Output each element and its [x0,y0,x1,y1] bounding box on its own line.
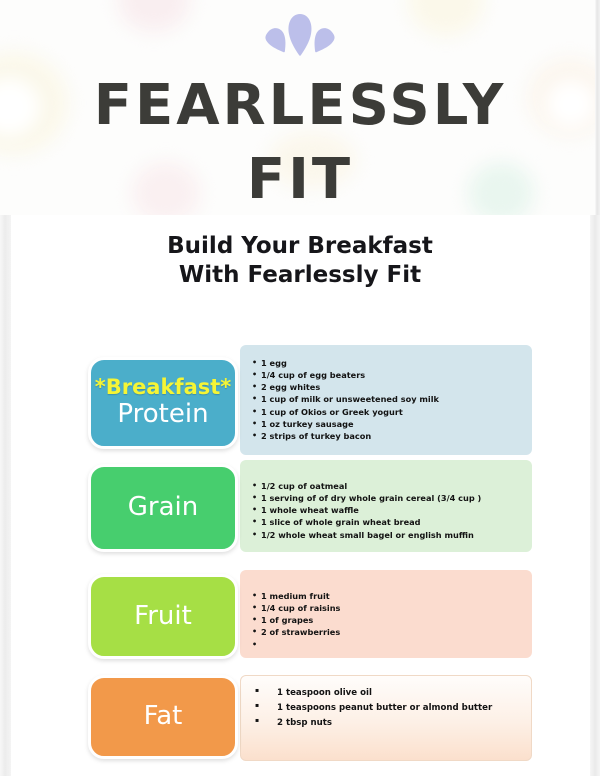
grain-item-list: 1/2 cup of oatmeal 1 serving of of dry w… [252,480,522,541]
list-item: 1 teaspoon olive oil [253,686,521,701]
food-group-row-grain: 1/2 cup of oatmeal 1 serving of of dry w… [0,460,600,570]
chip-label: Grain [128,492,198,523]
list-item: 2 of strawberries [252,626,522,638]
list-item: 2 egg whites [252,381,522,393]
list-item: 1 cup of milk or unsweetened soy milk [252,393,522,405]
subtitle-line-1: Build Your Breakfast [167,233,433,259]
protein-item-list: 1 egg 1/4 cup of egg beaters 2 egg white… [252,357,522,442]
list-item: 1 egg [252,357,522,369]
fruit-items-panel: 1 medium fruit 1/4 cup of raisins 1 of g… [240,570,532,658]
list-item: 1 whole wheat waffle [252,504,522,516]
brand-logo [0,8,600,68]
page-subtitle: Build Your Breakfast With Fearlessly Fit [0,232,600,291]
list-item: 1 teaspoons peanut butter or almond butt… [253,701,521,716]
food-group-chip-protein[interactable]: *Breakfast* Protein [88,357,238,449]
food-group-row-fruit: 1 medium fruit 1/4 cup of raisins 1 of g… [0,570,600,675]
food-group-chip-grain[interactable]: Grain [88,464,238,552]
list-item: 1/2 whole wheat small bagel or english m… [252,529,522,541]
grain-items-panel: 1/2 cup of oatmeal 1 serving of of dry w… [240,460,532,552]
protein-items-panel: 1 egg 1/4 cup of egg beaters 2 egg white… [240,345,532,455]
list-item: 1 medium fruit [252,590,522,602]
chip-sublabel: *Breakfast* [95,375,232,399]
list-item: 1/4 cup of egg beaters [252,369,522,381]
food-group-list: 1 egg 1/4 cup of egg beaters 2 egg white… [0,345,600,770]
fat-item-list: 1 teaspoon olive oil 1 teaspoons peanut … [253,686,521,730]
list-item: 2 tbsp nuts [253,716,521,731]
list-item: 1 slice of whole grain wheat bread [252,516,522,528]
chip-label: Protein [117,399,208,430]
header-band: FEARLESSLY FIT [0,0,600,215]
chip-label: Fat [144,701,183,732]
fat-items-panel: 1 teaspoon olive oil 1 teaspoons peanut … [240,675,532,761]
food-group-row-protein: 1 egg 1/4 cup of egg beaters 2 egg white… [0,345,600,460]
list-item: 1 oz turkey sausage [252,418,522,430]
list-item: 1/4 cup of raisins [252,602,522,614]
fruit-item-list: 1 medium fruit 1/4 cup of raisins 1 of g… [252,590,522,639]
food-group-chip-fruit[interactable]: Fruit [88,574,238,659]
subtitle-line-2: With Fearlessly Fit [0,261,600,290]
page-canvas: FEARLESSLY FIT Build Your Breakfast With… [0,0,600,776]
list-item: 1 of grapes [252,614,522,626]
list-item: 1/2 cup of oatmeal [252,480,522,492]
brand-title-line1: FEARLESSLY [0,78,600,134]
brand-title-line2: FIT [0,152,600,208]
food-group-chip-fat[interactable]: Fat [88,675,238,759]
chip-label: Fruit [134,601,192,632]
list-item: 2 strips of turkey bacon [252,430,522,442]
food-group-row-fat: 1 teaspoon olive oil 1 teaspoons peanut … [0,675,600,770]
list-item: 1 serving of of dry whole grain cereal (… [252,492,522,504]
three-petal-splash-icon [257,8,343,64]
list-item: 1 cup of Okios or Greek yogurt [252,406,522,418]
